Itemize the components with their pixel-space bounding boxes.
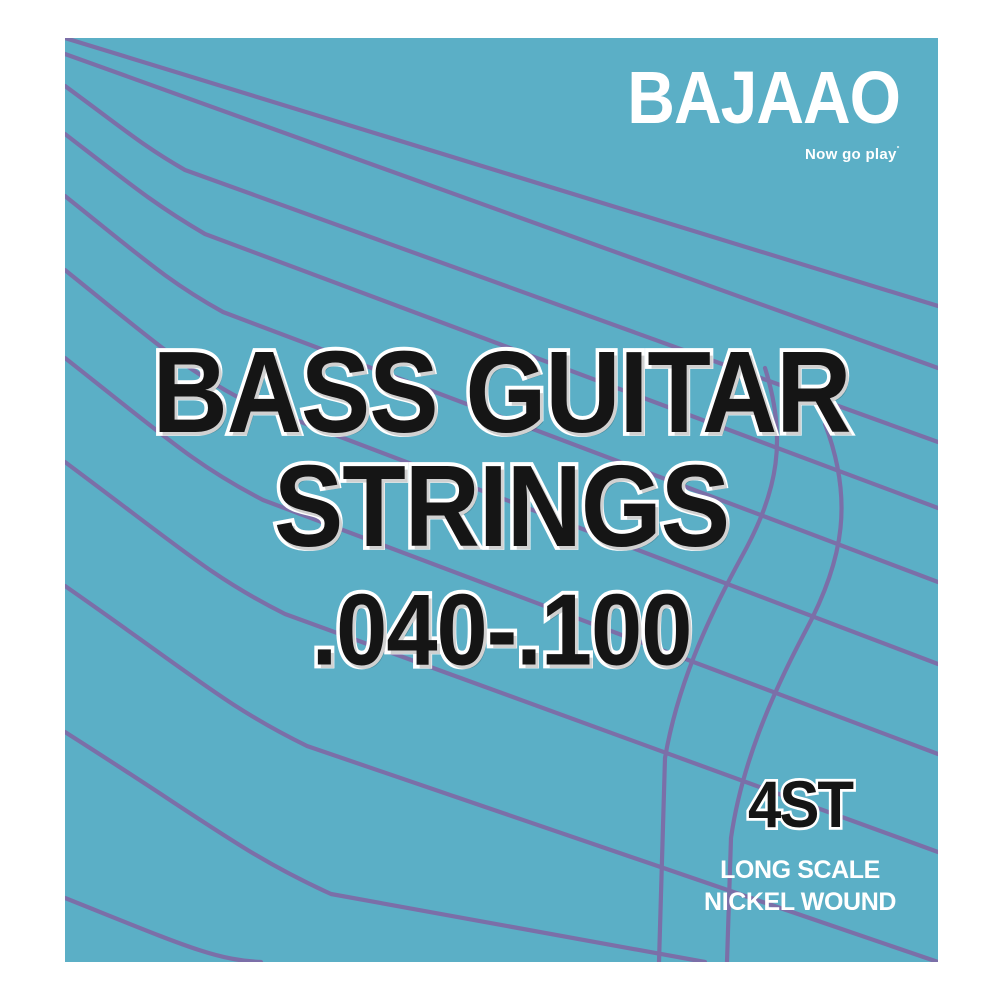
product-title-line-2: STRINGS xyxy=(65,452,938,564)
brand-logo: BAJAAO Now go play˚ xyxy=(627,68,900,162)
product-panel: BAJAAO Now go play˚ BASS GUITAR STRINGS … xyxy=(65,38,938,962)
brand-tagline: Now go play˚ xyxy=(627,146,900,162)
headline-block: BASS GUITAR STRINGS .040-.100 xyxy=(65,338,938,670)
string-count-badge: 4ST xyxy=(704,772,896,838)
spec-block: 4ST LONG SCALE NICKEL WOUND xyxy=(704,778,896,918)
package-artwork: BAJAAO Now go play˚ BASS GUITAR STRINGS … xyxy=(0,0,1000,1000)
trademark-mark: ˚ xyxy=(897,145,900,155)
winding-label: NICKEL WOUND xyxy=(704,886,896,918)
brand-tagline-text: Now go play xyxy=(805,146,897,163)
product-gauge: .040-.100 xyxy=(65,582,938,679)
product-title-line-1: BASS GUITAR xyxy=(65,338,938,450)
scale-label: LONG SCALE xyxy=(704,854,896,886)
brand-name: BAJAAO xyxy=(627,60,900,134)
